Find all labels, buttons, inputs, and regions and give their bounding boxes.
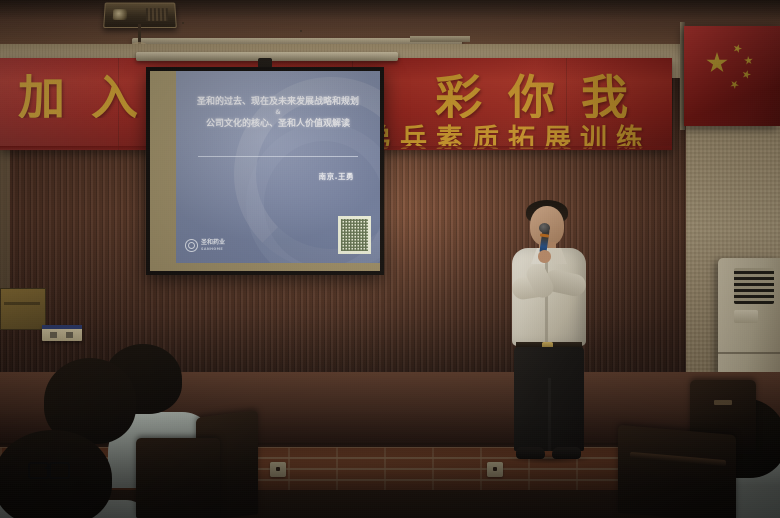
slide-title-ampersand: &	[182, 109, 374, 117]
company-name-latin: SANHOME	[201, 246, 225, 252]
microphone-head	[539, 223, 550, 233]
company-logo-text: 圣和药业 SANHOME	[201, 240, 225, 252]
power-outlet	[270, 462, 286, 477]
eyeglasses-icon	[28, 462, 70, 476]
projector-lens	[113, 9, 127, 20]
air-conditioner-seam	[718, 352, 780, 354]
stage-left-panel-seam	[4, 302, 40, 305]
nameplate-text-block	[50, 332, 57, 338]
qr-code-icon	[338, 216, 371, 254]
projector-mount	[138, 24, 141, 44]
slide-company-logo: 圣和药业 SANHOME	[185, 239, 225, 252]
nameplate-header-bar	[42, 325, 82, 329]
photo-scene: 加入 彩你我 子弟兵素质拓展训练 圣和的过去、现在及未来发展战略和规划 & 公司…	[0, 0, 780, 518]
ceiling-mark	[182, 22, 184, 24]
speaker-shoe	[516, 447, 545, 459]
stage-left-panel	[0, 288, 46, 330]
projector-vent	[146, 8, 168, 21]
speaker-figure	[498, 198, 602, 466]
flag-sheen	[684, 26, 780, 126]
slide-title: 圣和的过去、现在及未来发展战略和规划 & 公司文化的核心、圣和人价值观解读	[182, 95, 374, 131]
qr-code-pattern	[341, 219, 368, 251]
speaker-trouser-seam	[548, 378, 551, 451]
seat-label-plate	[714, 400, 732, 405]
auditorium-seat	[618, 425, 736, 518]
slide-divider	[198, 156, 358, 157]
nameplate-text-block	[66, 332, 73, 338]
slide-title-line1: 圣和的过去、现在及未来发展战略和规划	[197, 97, 359, 107]
ceiling-mark	[300, 30, 302, 32]
eyeglasses-bridge	[45, 467, 51, 469]
company-logo-icon	[185, 239, 198, 252]
ceiling-rail-secondary	[410, 36, 470, 42]
speaker-hand	[538, 250, 551, 263]
air-conditioner-control-panel	[734, 310, 758, 323]
speaker-shoe	[552, 447, 581, 459]
slide-title-line2: 公司文化的核心、圣和人价值观解读	[206, 119, 350, 129]
presentation-slide: 圣和的过去、现在及未来发展战略和规划 & 公司文化的核心、圣和人价值观解读 南京…	[176, 71, 380, 263]
company-name: 圣和药业	[201, 239, 225, 246]
air-conditioner-vent	[734, 268, 774, 304]
auditorium-seat	[136, 438, 220, 518]
slide-author: 南京.王勇	[182, 171, 354, 182]
